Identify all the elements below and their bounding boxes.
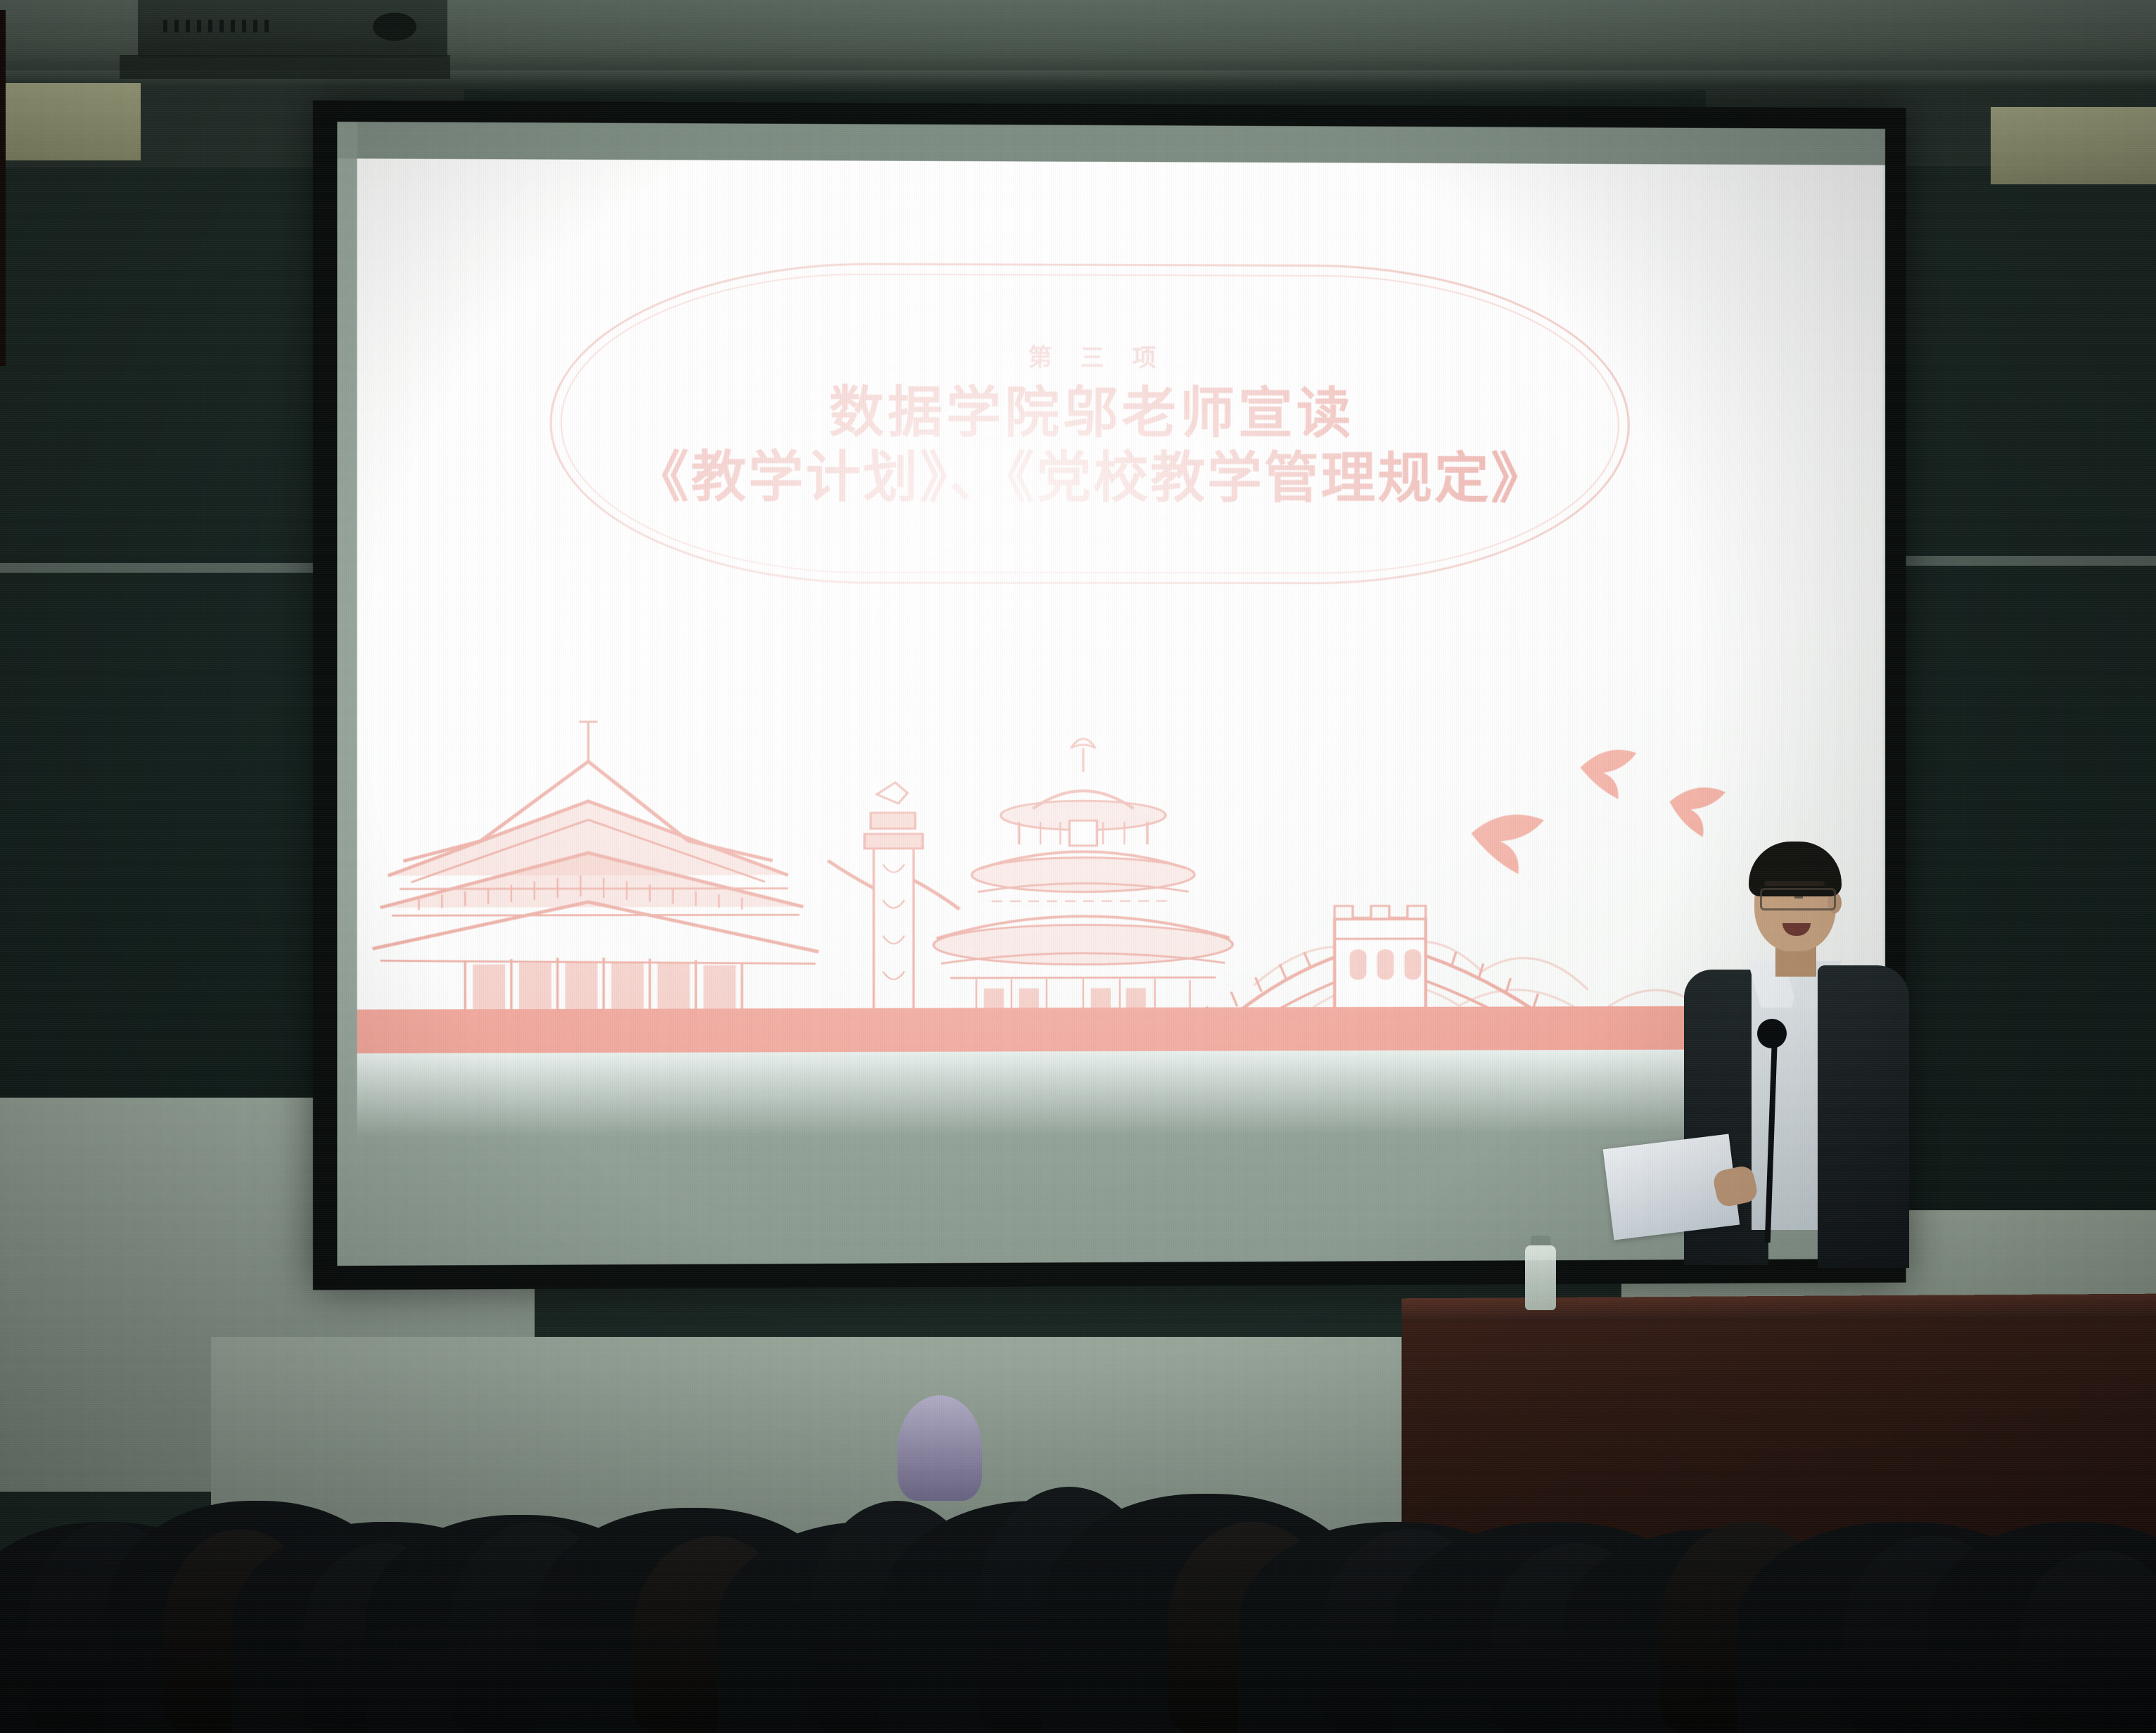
projector-shadow (120, 55, 450, 79)
slide-title-line-2: 《教学计划》、《党校教学管理规定》 (634, 447, 1548, 510)
audience (0, 1297, 2156, 1733)
projector-lens-icon (373, 13, 416, 41)
microphone-icon (1757, 1019, 1787, 1048)
screen-top-margin (337, 122, 1885, 165)
slide-eyebrow: 第 三 项 (1019, 338, 1166, 374)
podium-side (0, 10, 6, 366)
lecture-hall-photo: 第 三 项 数据学院邬老师宣读 《教学计划》、《党校教学管理规定》 (0, 0, 2156, 1733)
screen-surface: 第 三 项 数据学院邬老师宣读 《教学计划》、《党校教学管理规定》 (337, 122, 1885, 1266)
projector-vents (163, 20, 269, 32)
wall-panel-right (1991, 107, 2156, 184)
projector-icon (138, 0, 447, 58)
slide-title-frame: 第 三 项 数据学院邬老师宣读 《教学计划》、《党校教学管理规定》 (550, 262, 1630, 585)
speaker (1687, 837, 1898, 1288)
slide-illustration (357, 642, 1882, 1053)
beijing-landmarks-icon (357, 642, 1882, 1053)
slide: 第 三 项 数据学院邬老师宣读 《教学计划》、《党校教学管理规定》 (357, 158, 1882, 1053)
purple-knit-item (898, 1395, 982, 1501)
slide-title-line-1: 数据学院邬老师宣读 (829, 383, 1354, 444)
speaker-brow (1764, 881, 1825, 886)
speaker-jacket-right (1818, 965, 1909, 1268)
glasses-icon (1760, 888, 1836, 910)
wall-panel-left (0, 83, 141, 160)
projection-screen: 第 三 项 数据学院邬老师宣读 《教学计划》、《党校教学管理规定》 (313, 101, 1906, 1290)
slide-bottom-band (357, 1005, 1882, 1053)
